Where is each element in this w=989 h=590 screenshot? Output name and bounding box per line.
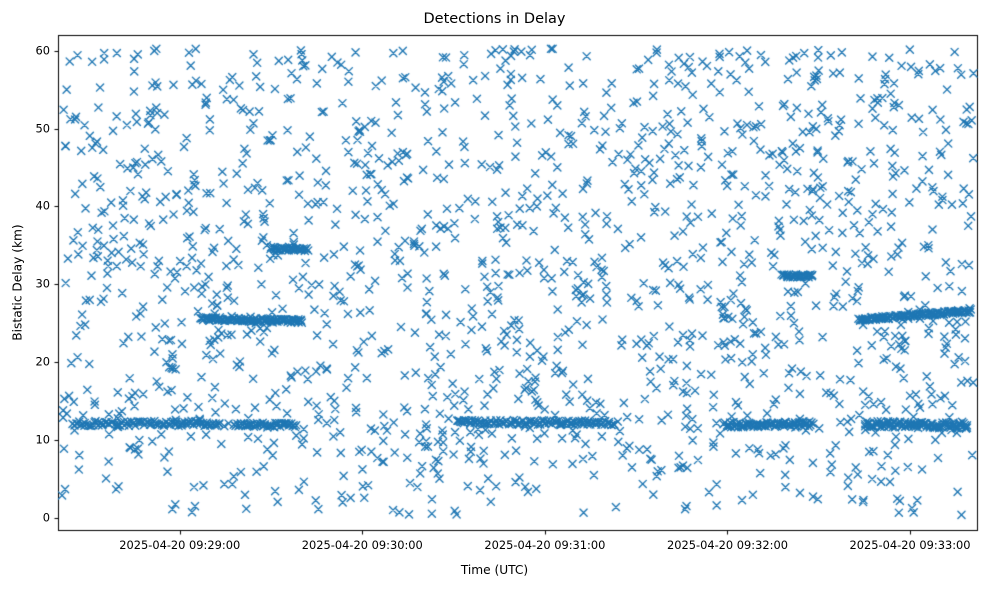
scatter-plot-figure: Detections in Delay Time (UTC) Bistatic … bbox=[0, 0, 989, 590]
scatter-plot-canvas bbox=[0, 0, 989, 590]
